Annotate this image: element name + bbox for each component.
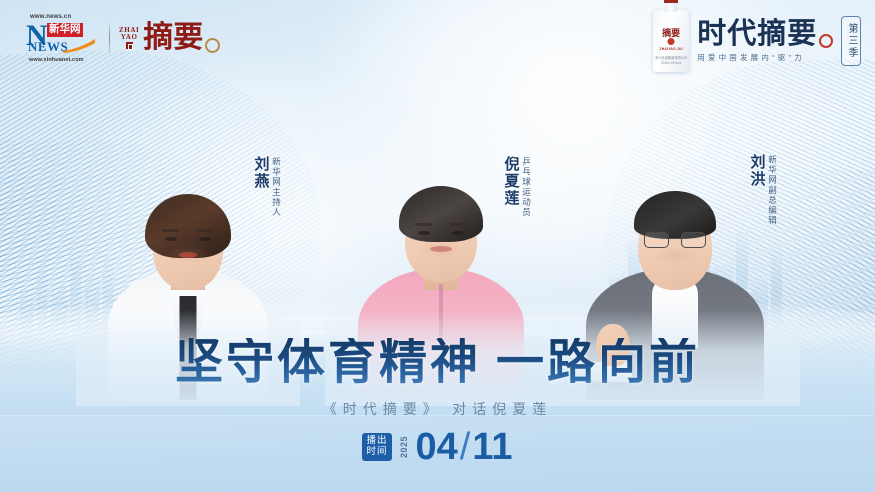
- broadcast-date-row: 播出 时间 2025 04 / 11: [0, 428, 875, 466]
- guest2-lips: [430, 246, 452, 252]
- show-subtitle: 用爱中国发展内“驱”力: [697, 52, 805, 63]
- nametag-ni-xialian: 倪夏莲 乒乓球运动员: [502, 156, 532, 218]
- season-badge: 第三季: [841, 16, 861, 66]
- nametag-2-name: 倪夏莲: [502, 156, 519, 207]
- orange-swoosh-icon: [62, 39, 96, 53]
- red-ring-icon: [819, 34, 833, 48]
- guest1-brow-left: [162, 229, 179, 232]
- guest2-eye-left: [418, 231, 430, 235]
- guest1-eye-right: [199, 237, 211, 241]
- program-logo-pinyin: ZHAI YAO: [119, 27, 139, 49]
- red-seal-icon: [126, 42, 133, 49]
- headline-subtitle: 《时代摘要》 对话倪夏莲: [0, 399, 875, 419]
- poster-canvas: www.news.cn N 新华网 NEWS www.xinhuanet.com…: [0, 0, 875, 492]
- red-dot-icon: [668, 38, 675, 45]
- bottle-cap: [664, 0, 678, 3]
- broadcast-day: 11: [472, 428, 512, 466]
- eyeglasses-icon: [644, 232, 706, 247]
- guest1-lips: [179, 252, 197, 258]
- logo-divider: [109, 20, 110, 56]
- broadcast-time-badge: 播出 时间: [362, 433, 391, 460]
- guest2-brow-right: [450, 223, 467, 226]
- nametag-liu-hong: 刘洪 新华网副总编辑: [748, 154, 778, 226]
- nametag-1-role: 新华网主持人: [272, 156, 282, 218]
- program-logo-name: 摘要: [143, 23, 203, 53]
- guest1-brow-right: [197, 229, 214, 232]
- broadcast-year: 2025: [399, 436, 409, 458]
- nametag-2-role: 乒乓球运动员: [522, 156, 532, 218]
- xinhua-logo[interactable]: www.news.cn N 新华网 NEWS www.xinhuanet.com: [26, 14, 100, 62]
- xinhua-chinese-name: 新华网: [47, 23, 83, 37]
- nametag-1-name: 刘燕: [252, 156, 269, 190]
- show-brand-block: 时代摘要 用爱中国发展内“驱”力: [697, 19, 833, 62]
- bottle-label-line1: 贵州珍酒酿酒有限公司: [655, 55, 687, 60]
- nametag-3-name: 刘洪: [748, 154, 765, 188]
- xinhua-url-bottom: www.xinhuanet.com: [29, 57, 84, 63]
- page-title: 坚守体育精神 一路向前: [0, 338, 875, 388]
- guest1-eye-left: [165, 237, 177, 241]
- header-left-logos: www.news.cn N 新华网 NEWS www.xinhuanet.com…: [26, 14, 220, 62]
- glasses-lens-left: [644, 232, 669, 248]
- glasses-lens-right: [681, 232, 706, 248]
- nametag-3-role: 新华网副总编辑: [768, 154, 778, 226]
- bottle-label-line2: 500ml 53%vol: [661, 61, 681, 65]
- broadcast-badge-line2: 时间: [366, 447, 387, 458]
- show-title-text: 时代摘要: [697, 19, 817, 49]
- broadcast-month: 04: [416, 428, 458, 466]
- date-separator: /: [460, 428, 471, 466]
- guest2-hair: [399, 186, 483, 242]
- nametag-liu-yan: 刘燕 新华网主持人: [252, 156, 282, 218]
- bottle-label-sub: ZHAIYAO JIU: [660, 47, 683, 51]
- pinyin-yao: YAO: [121, 34, 138, 41]
- headline-block: 坚守体育精神 一路向前 《时代摘要》 对话倪夏莲 播出 时间 2025 04 /…: [0, 338, 875, 466]
- show-title-row: 时代摘要: [697, 19, 833, 49]
- guest3-face-shading: [651, 246, 699, 264]
- guest2-brow-left: [415, 223, 432, 226]
- program-logo-zhaiyao[interactable]: ZHAI YAO 摘要: [119, 23, 220, 53]
- broadcast-month-day: 04 / 11: [416, 428, 513, 466]
- gold-ring-icon: [205, 38, 220, 53]
- guest2-eye-right: [452, 231, 464, 235]
- header-right-brand: 摘要 ZHAIYAO JIU 贵州珍酒酿酒有限公司 500ml 53%vol 时…: [653, 10, 861, 72]
- liquor-bottle-icon: 摘要 ZHAIYAO JIU 贵州珍酒酿酒有限公司 500ml 53%vol: [653, 10, 689, 72]
